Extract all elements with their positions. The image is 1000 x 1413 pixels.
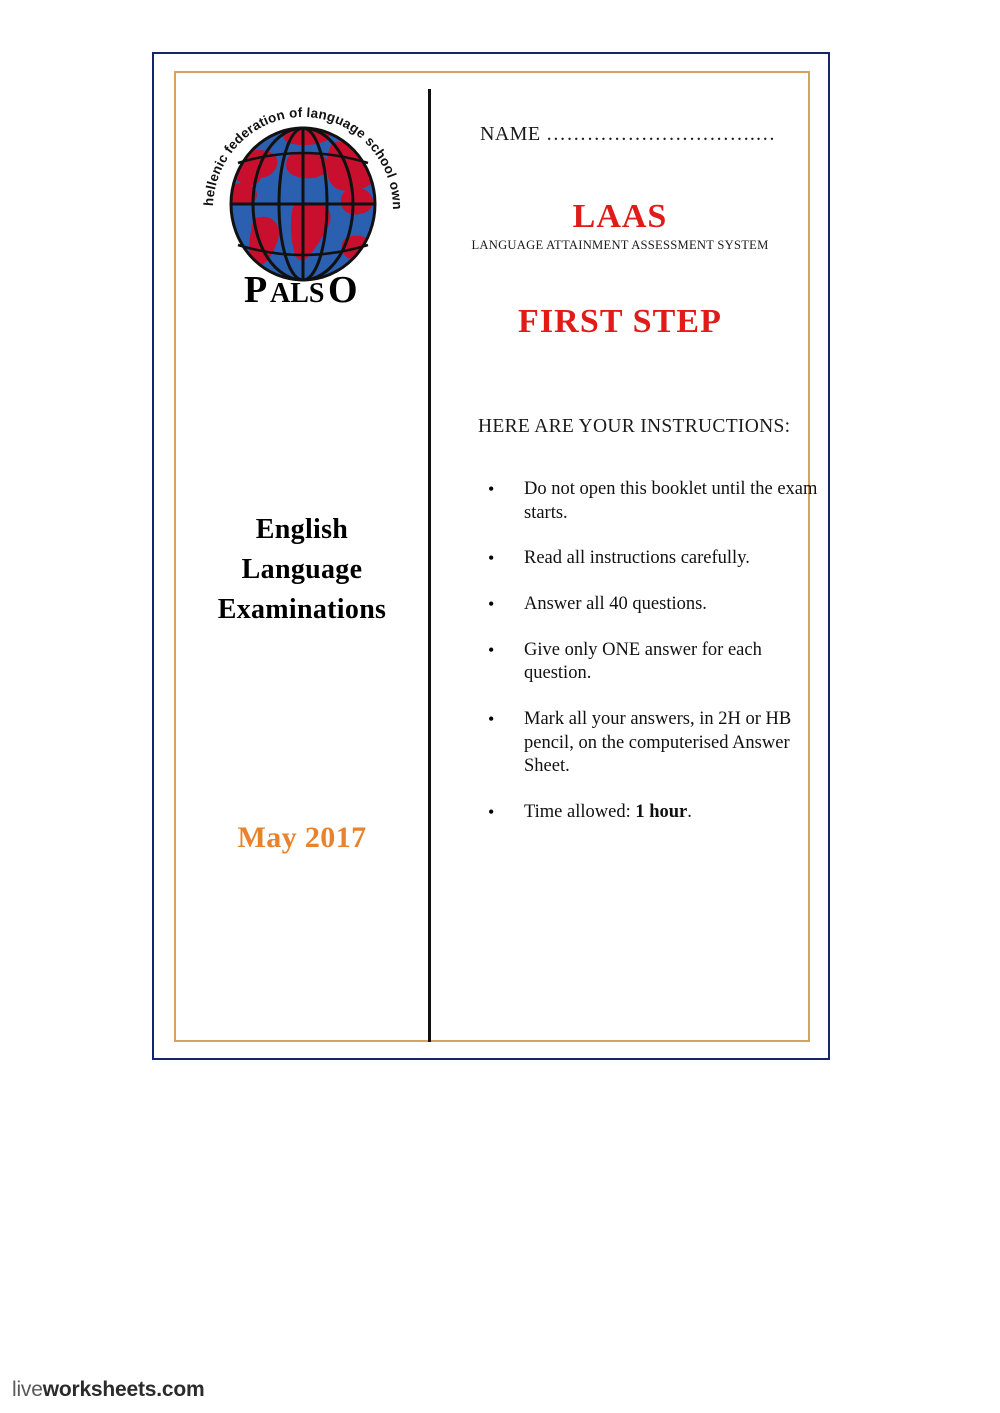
watermark-suffix: .com bbox=[156, 1378, 204, 1401]
bullet-icon: • bbox=[488, 593, 494, 616]
instruction-item: • Do not open this booklet until the exa… bbox=[478, 478, 818, 525]
brand-acronym: LAAS bbox=[432, 200, 808, 234]
name-field-label: NAME bbox=[480, 123, 541, 145]
instruction-text: Do not open this booklet until the exam … bbox=[524, 479, 817, 523]
instruction-item: • Read all instructions carefully. bbox=[478, 547, 818, 571]
exam-booklet-cover: panhellenic federation of language schoo… bbox=[152, 52, 830, 1060]
exam-title: English Language Examinations bbox=[176, 510, 428, 629]
palso-logo: panhellenic federation of language schoo… bbox=[198, 97, 408, 309]
right-column: NAME ………………………….… LAAS LANGUAGE ATTAINME… bbox=[432, 73, 808, 1040]
exam-title-line-2: Language bbox=[176, 550, 428, 590]
svg-text:O: O bbox=[328, 269, 358, 309]
cover-columns: panhellenic federation of language schoo… bbox=[176, 73, 808, 1040]
svg-text:P: P bbox=[244, 269, 267, 309]
name-field[interactable]: NAME ………………………….… bbox=[480, 123, 776, 146]
bullet-icon: • bbox=[488, 547, 494, 570]
bullet-icon: • bbox=[488, 639, 494, 662]
instruction-item: • Time allowed: 1 hour. bbox=[478, 801, 818, 825]
liveworksheets-watermark: liveworksheets.com bbox=[12, 1378, 205, 1402]
brand-block: LAAS LANGUAGE ATTAINMENT ASSESSMENT SYST… bbox=[432, 200, 808, 253]
instruction-text: Give only ONE answer for each question. bbox=[524, 640, 762, 684]
bullet-icon: • bbox=[488, 478, 494, 501]
instruction-emphasis: 1 hour bbox=[635, 802, 687, 822]
instruction-text: Read all instructions carefully. bbox=[524, 548, 750, 568]
watermark-prefix: live bbox=[12, 1378, 43, 1401]
left-column: panhellenic federation of language schoo… bbox=[176, 73, 428, 1040]
instruction-item: • Give only ONE answer for each question… bbox=[478, 639, 818, 686]
instruction-item: • Mark all your answers, in 2H or HB pen… bbox=[478, 708, 818, 779]
column-divider bbox=[428, 89, 431, 1042]
instruction-text: Time allowed: bbox=[524, 802, 635, 822]
instructions-list: • Do not open this booklet until the exa… bbox=[478, 478, 818, 847]
instruction-suffix: . bbox=[687, 802, 692, 822]
instruction-text: Answer all 40 questions. bbox=[524, 594, 707, 614]
exam-date: May 2017 bbox=[176, 821, 428, 855]
instructions-heading: HERE ARE YOUR INSTRUCTIONS: bbox=[478, 416, 790, 438]
name-field-dotted-line: ………………………….… bbox=[546, 123, 776, 145]
watermark-strong: worksheets bbox=[43, 1378, 157, 1401]
exam-title-line-3: Examinations bbox=[176, 590, 428, 630]
brand-expansion: LANGUAGE ATTAINMENT ASSESSMENT SYSTEM bbox=[432, 238, 808, 253]
inner-decorative-border: panhellenic federation of language schoo… bbox=[174, 71, 810, 1042]
instruction-item: • Answer all 40 questions. bbox=[478, 593, 818, 617]
bullet-icon: • bbox=[488, 708, 494, 731]
instruction-text: Mark all your answers, in 2H or HB penci… bbox=[524, 709, 791, 776]
exam-title-line-1: English bbox=[176, 510, 428, 550]
bullet-icon: • bbox=[488, 801, 494, 824]
svg-text:ALS: ALS bbox=[270, 278, 324, 309]
level-title: FIRST STEP bbox=[432, 303, 808, 341]
logo-globe-grid bbox=[231, 128, 375, 280]
